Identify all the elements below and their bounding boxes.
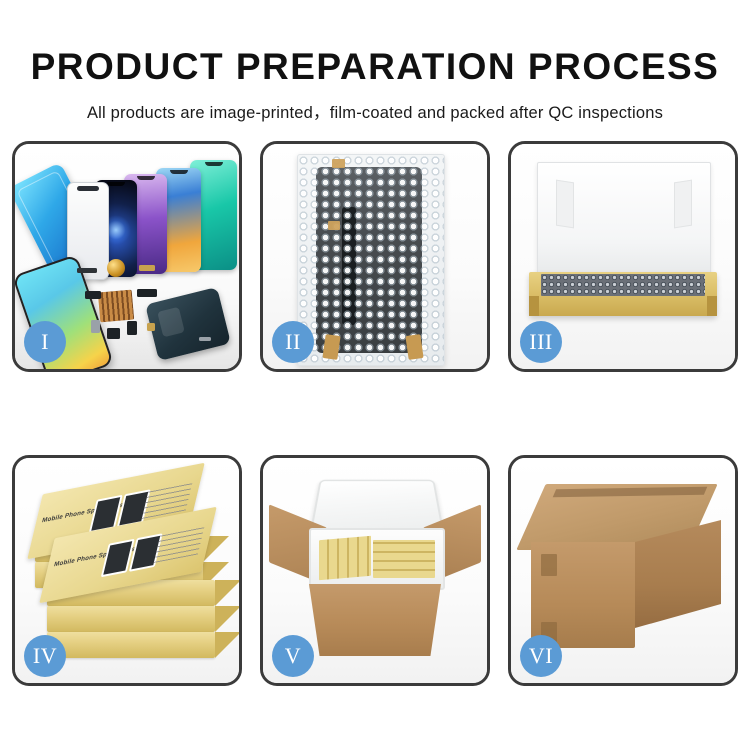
process-step-3: III [508, 141, 738, 372]
part-speaker [107, 328, 120, 339]
page-subtitle: All products are image-printed，film-coat… [0, 85, 750, 123]
process-step-4: Mobile Phone Spare Parts Mobile Phone Sp… [12, 455, 242, 686]
kraft-box-tray [529, 272, 717, 316]
process-step-2: II [260, 141, 490, 372]
part-strip [77, 268, 97, 273]
part-connector [139, 265, 155, 271]
packed-boxes-left [319, 536, 371, 581]
lid-flap-left [556, 180, 574, 229]
tray-corner-right [707, 296, 717, 316]
part-screwdriver-tip [199, 337, 211, 341]
lid-flap-right [674, 180, 692, 229]
box-lid-open [537, 162, 711, 278]
process-step-grid: I II [12, 141, 738, 681]
process-step-1: I [12, 141, 242, 372]
bubble-wrap-bag [297, 154, 445, 366]
step-badge-1: I [24, 321, 66, 363]
step-badge-4: IV [24, 635, 66, 677]
box-label-specs-2 [154, 525, 205, 563]
step-badge-3: III [520, 321, 562, 363]
process-step-5: V [260, 455, 490, 686]
foam-insert [309, 528, 445, 590]
page-title: PRODUCT PREPARATION PROCESS [0, 0, 750, 85]
packed-boxes-right [373, 540, 435, 578]
part-flex-cable [85, 291, 101, 299]
header: PRODUCT PREPARATION PROCESS All products… [0, 0, 750, 123]
step-badge-5: V [272, 635, 314, 677]
tape-middle [328, 221, 340, 230]
carton-tape-upper [541, 554, 557, 576]
part-button [127, 321, 137, 335]
part-flex-cable-2 [137, 289, 157, 297]
tray-corner-left [529, 296, 539, 316]
bubble-wrapped-contents [541, 274, 705, 296]
product-preparation-infographic: PRODUCT PREPARATION PROCESS All products… [0, 0, 750, 750]
stacked-box-4 [47, 606, 215, 632]
stacked-box-5 [47, 632, 215, 658]
process-step-6: VI [508, 455, 738, 686]
part-metal-bracket [91, 320, 100, 333]
part-screw [147, 323, 155, 331]
vibration-motor-icon [107, 259, 125, 277]
screw-tray-icon [98, 290, 134, 323]
tape-top [332, 159, 345, 168]
shipping-carton-open [309, 584, 441, 656]
step-badge-2: II [272, 321, 314, 363]
step-badge-6: VI [520, 635, 562, 677]
retail-box-stack: Mobile Phone Spare Parts Mobile Phone Sp… [29, 480, 225, 664]
bubble-texture [298, 155, 444, 365]
tape-bottom-right [405, 334, 423, 360]
